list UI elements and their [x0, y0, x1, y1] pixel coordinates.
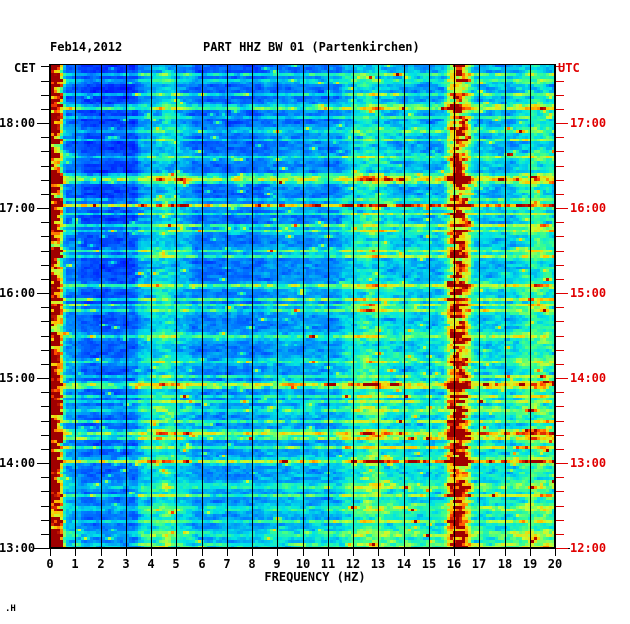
left-axis-minor-tick: [41, 137, 49, 138]
x-axis-tick: [101, 549, 102, 556]
x-axis-tick-label: 20: [543, 557, 567, 571]
left-axis-minor-tick: [41, 194, 49, 195]
x-axis-tick-label: 12: [341, 557, 365, 571]
left-axis-minor-tick: [41, 151, 49, 152]
x-axis-tick: [454, 549, 455, 556]
right-axis-major-tick: [556, 208, 568, 209]
right-axis-minor-tick: [556, 236, 564, 237]
left-axis-minor-tick: [41, 506, 49, 507]
x-axis-tick-label: 10: [291, 557, 315, 571]
left-axis-minor-tick: [41, 477, 49, 478]
right-axis-caption: UTC: [558, 61, 580, 75]
right-axis-minor-tick: [556, 265, 564, 266]
left-axis-minor-tick: [41, 435, 49, 436]
left-axis-minor-tick: [41, 279, 49, 280]
x-axis-tick-label: 1: [63, 557, 87, 571]
plot-title: PART HHZ BW 01 (Partenkirchen): [203, 40, 420, 54]
left-axis-caption: CET: [14, 61, 36, 75]
bottom-axis-line: [34, 548, 570, 549]
left-axis-minor-tick: [41, 180, 49, 181]
x-axis-tick-label: 9: [265, 557, 289, 571]
right-axis-major-tick: [556, 548, 568, 549]
left-axis-minor-tick: [41, 236, 49, 237]
x-axis-tick: [353, 549, 354, 556]
left-axis-tick-label: 16:00: [0, 286, 35, 300]
left-axis-tick-label: 15:00: [0, 371, 35, 385]
right-axis-minor-tick: [556, 151, 564, 152]
right-axis-major-tick: [556, 123, 568, 124]
left-axis-minor-tick: [41, 449, 49, 450]
right-axis-tick-label: 14:00: [570, 371, 606, 385]
left-axis-minor-tick: [41, 364, 49, 365]
right-axis-minor-tick: [556, 279, 564, 280]
left-axis-tick-label: 18:00: [0, 116, 35, 130]
spectrogram-canvas: [50, 64, 555, 548]
left-axis-minor-tick: [41, 534, 49, 535]
corner-mark: .H: [5, 604, 16, 614]
spectrogram-page: Feb14,2012 PART HHZ BW 01 (Partenkirchen…: [0, 0, 630, 624]
x-axis-tick-label: 7: [215, 557, 239, 571]
left-axis-minor-tick: [41, 491, 49, 492]
x-axis-tick-label: 18: [493, 557, 517, 571]
right-axis-tick-label: 13:00: [570, 456, 606, 470]
x-axis-tick-label: 16: [442, 557, 466, 571]
right-axis-tick-label: 17:00: [570, 116, 606, 130]
right-axis-minor-tick: [556, 180, 564, 181]
left-axis-minor-tick: [41, 321, 49, 322]
x-axis-tick: [530, 549, 531, 556]
x-axis-tick: [328, 549, 329, 556]
right-axis-minor-tick: [556, 222, 564, 223]
left-axis-major-tick: [37, 123, 49, 124]
x-axis-tick: [176, 549, 177, 556]
left-axis-tick-label: 14:00: [0, 456, 35, 470]
x-axis-tick-label: 5: [164, 557, 188, 571]
left-axis-minor-tick: [41, 265, 49, 266]
plot-date: Feb14,2012: [50, 40, 122, 54]
x-axis-tick-label: 15: [417, 557, 441, 571]
x-axis-tick-label: 11: [316, 557, 340, 571]
right-axis-minor-tick: [556, 307, 564, 308]
right-axis-minor-tick: [556, 66, 564, 67]
x-axis-tick: [404, 549, 405, 556]
right-axis-minor-tick: [556, 364, 564, 365]
left-axis-minor-tick: [41, 66, 49, 67]
left-axis-minor-tick: [41, 421, 49, 422]
x-axis-tick-label: 17: [467, 557, 491, 571]
left-axis-major-tick: [37, 378, 49, 379]
left-axis-minor-tick: [41, 307, 49, 308]
right-axis-minor-tick: [556, 194, 564, 195]
x-axis-tick-label: 19: [518, 557, 542, 571]
x-axis-tick: [555, 549, 556, 556]
x-axis-tick: [277, 549, 278, 556]
left-axis-major-tick: [37, 463, 49, 464]
left-axis-minor-tick: [41, 81, 49, 82]
x-axis-tick-label: 0: [38, 557, 62, 571]
right-axis-minor-tick: [556, 491, 564, 492]
x-axis-tick: [50, 549, 51, 556]
right-axis-minor-tick: [556, 81, 564, 82]
right-axis-minor-tick: [556, 421, 564, 422]
right-axis-minor-tick: [556, 137, 564, 138]
right-axis-minor-tick: [556, 350, 564, 351]
right-axis-minor-tick: [556, 392, 564, 393]
right-axis-major-tick: [556, 293, 568, 294]
left-axis-minor-tick: [41, 406, 49, 407]
left-axis-minor-tick: [41, 109, 49, 110]
right-axis-tick-label: 15:00: [570, 286, 606, 300]
right-axis-major-tick: [556, 463, 568, 464]
x-axis-tick: [429, 549, 430, 556]
left-axis-major-tick: [37, 293, 49, 294]
x-axis-title: FREQUENCY (HZ): [0, 570, 630, 584]
spectrogram-plot: [50, 64, 555, 548]
x-axis-tick: [202, 549, 203, 556]
x-axis-tick: [75, 549, 76, 556]
x-axis-tick: [252, 549, 253, 556]
left-axis-major-tick: [37, 548, 49, 549]
right-axis-minor-tick: [556, 406, 564, 407]
right-axis-minor-tick: [556, 166, 564, 167]
x-axis-tick: [479, 549, 480, 556]
right-axis-minor-tick: [556, 321, 564, 322]
x-axis-tick-label: 6: [190, 557, 214, 571]
right-axis-minor-tick: [556, 435, 564, 436]
x-axis-tick: [151, 549, 152, 556]
left-axis-minor-tick: [41, 392, 49, 393]
left-axis-major-tick: [37, 208, 49, 209]
left-axis-minor-tick: [41, 222, 49, 223]
right-axis-minor-tick: [556, 534, 564, 535]
x-axis-tick: [227, 549, 228, 556]
x-axis-tick-label: 14: [392, 557, 416, 571]
x-axis-tick-label: 4: [139, 557, 163, 571]
x-axis-tick-label: 13: [366, 557, 390, 571]
right-axis-tick-label: 16:00: [570, 201, 606, 215]
right-axis-minor-tick: [556, 449, 564, 450]
right-axis-minor-tick: [556, 520, 564, 521]
right-axis-minor-tick: [556, 95, 564, 96]
right-axis-minor-tick: [556, 477, 564, 478]
right-axis-minor-tick: [556, 506, 564, 507]
left-axis-minor-tick: [41, 350, 49, 351]
left-axis-minor-tick: [41, 336, 49, 337]
left-axis-minor-tick: [41, 95, 49, 96]
x-axis-tick-label: 3: [114, 557, 138, 571]
right-axis-minor-tick: [556, 109, 564, 110]
x-axis-tick: [378, 549, 379, 556]
right-axis-tick-label: 12:00: [570, 541, 606, 555]
x-axis-tick-label: 8: [240, 557, 264, 571]
x-axis-tick: [303, 549, 304, 556]
right-axis-minor-tick: [556, 336, 564, 337]
left-axis-tick-label: 17:00: [0, 201, 35, 215]
left-axis-minor-tick: [41, 520, 49, 521]
x-axis-tick: [126, 549, 127, 556]
x-axis-tick: [505, 549, 506, 556]
right-axis-minor-tick: [556, 251, 564, 252]
right-axis-major-tick: [556, 378, 568, 379]
left-axis-minor-tick: [41, 166, 49, 167]
left-axis-minor-tick: [41, 251, 49, 252]
left-axis-tick-label: 13:00: [0, 541, 35, 555]
x-axis-tick-label: 2: [89, 557, 113, 571]
